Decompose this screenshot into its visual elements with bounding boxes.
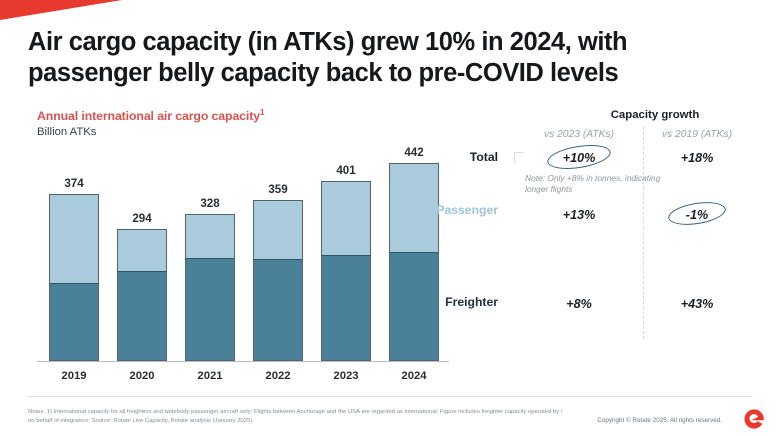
chart-heading-text: Annual international air cargo capacity xyxy=(37,109,260,123)
bar-2019[interactable] xyxy=(49,194,99,361)
growth-passenger-vs2023: +13% xyxy=(519,208,639,222)
copyright-text: Copyright © Rotate 2025. All rights rese… xyxy=(597,417,722,424)
growth-note: Note: Only +8% in tonnes, indicating lon… xyxy=(525,173,665,195)
page-title: Air cargo capacity (in ATKs) grew 10% in… xyxy=(28,27,744,89)
bar-total-label-2022: 359 xyxy=(253,183,303,196)
growth-col-header-vs2019: vs 2019 (ATKs) xyxy=(637,129,757,140)
capacity-growth-panel: Capacity growth vs 2023 (ATKs) vs 2019 (… xyxy=(455,105,780,355)
bar-segment-freighter-2019[interactable] xyxy=(49,283,99,361)
x-axis-label-2024: 2024 xyxy=(389,370,439,382)
bar-segment-passenger-2019[interactable] xyxy=(49,194,99,284)
bar-segment-freighter-2021[interactable] xyxy=(185,258,235,361)
growth-panel-title: Capacity growth xyxy=(530,109,780,121)
bar-segment-passenger-2021[interactable] xyxy=(185,214,235,258)
growth-col-header-vs2023: vs 2023 (ATKs) xyxy=(519,129,639,140)
bar-total-label-2021: 328 xyxy=(185,197,235,210)
chart-heading-footnote-marker: 1 xyxy=(260,108,264,117)
x-axis-label-2021: 2021 xyxy=(185,370,235,382)
bar-chart-plot: 374294328359401442 201920202021202220232… xyxy=(37,150,449,362)
bar-segment-passenger-2022[interactable] xyxy=(253,200,303,259)
bar-segment-freighter-2020[interactable] xyxy=(117,271,167,361)
growth-total-vs2023: +10% xyxy=(519,151,639,165)
bar-2020[interactable] xyxy=(117,229,167,361)
chart-header: Annual international air cargo capacity1… xyxy=(37,108,264,138)
bar-2022[interactable] xyxy=(253,200,303,361)
x-axis-label-2022: 2022 xyxy=(253,370,303,382)
growth-passenger-vs2019: -1% xyxy=(637,208,757,222)
note-bracket xyxy=(514,152,524,163)
bar-total-label-2024: 442 xyxy=(389,146,439,159)
bar-segment-freighter-2022[interactable] xyxy=(253,259,303,361)
chart-units-label: Billion ATKs xyxy=(37,126,264,138)
bar-total-label-2020: 294 xyxy=(117,212,167,225)
growth-total-vs2019: +18% xyxy=(637,151,757,165)
growth-freighter-vs2019: +43% xyxy=(637,297,757,311)
bar-segment-freighter-2023[interactable] xyxy=(321,255,371,361)
x-axis-label-2023: 2023 xyxy=(321,370,371,382)
bar-2023[interactable] xyxy=(321,181,371,361)
bar-segment-passenger-2020[interactable] xyxy=(117,229,167,271)
footer-divider xyxy=(28,396,752,397)
bar-total-label-2023: 401 xyxy=(321,164,371,177)
bar-total-label-2019: 374 xyxy=(49,177,99,190)
chart-heading: Annual international air cargo capacity1 xyxy=(37,108,264,123)
footnotes: Notes: 1) International capacity for all… xyxy=(28,408,568,426)
x-axis-label-2020: 2020 xyxy=(117,370,167,382)
bar-2021[interactable] xyxy=(185,214,235,361)
slide-canvas: Air cargo capacity (in ATKs) grew 10% in… xyxy=(0,0,780,436)
growth-freighter-vs2023: +8% xyxy=(519,297,639,311)
x-axis-label-2019: 2019 xyxy=(49,370,99,382)
bar-2024[interactable] xyxy=(389,163,439,361)
brand-accent-wedge xyxy=(0,0,122,20)
bar-segment-passenger-2023[interactable] xyxy=(321,181,371,254)
rotate-logo-icon xyxy=(742,407,766,431)
